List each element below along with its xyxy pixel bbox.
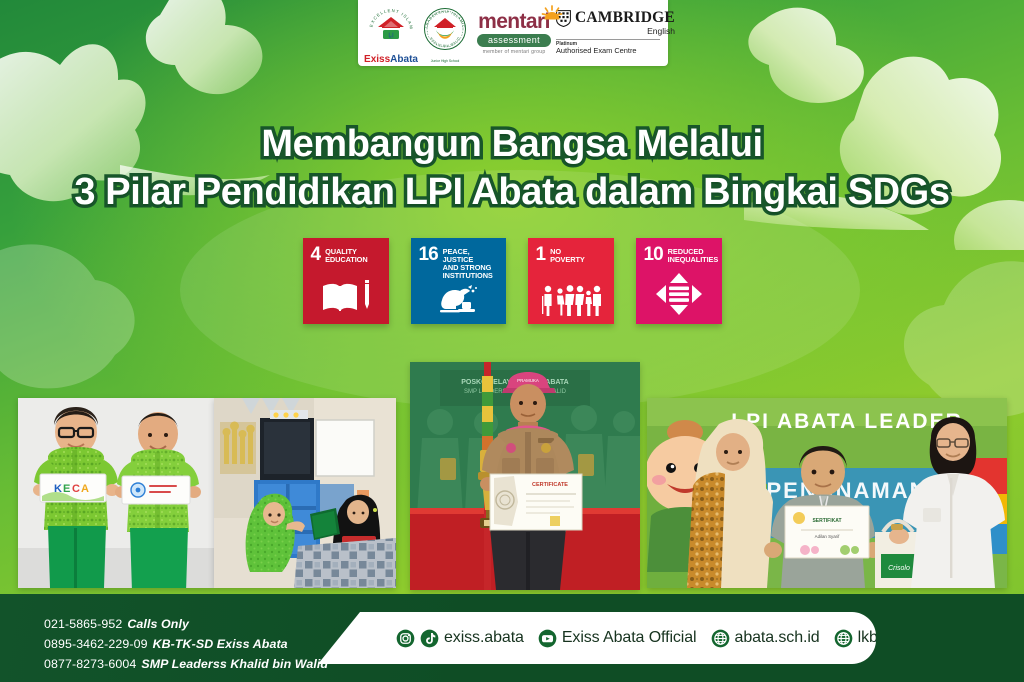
footer-bar: exiss.abata Exiss Abata Official [0, 594, 1024, 682]
cambridge-authorised-label: Authorised Exam Centre [556, 47, 660, 56]
svg-text:A: A [81, 483, 89, 495]
social-label-youtube: Exiss Abata Official [562, 629, 697, 647]
cambridge-english-label: English [575, 27, 675, 36]
leadership-seal-icon: LEADERSHIP ISLAMIC SCHOOL KHALID BIN WAL… [418, 4, 472, 58]
svg-text:PRAMUKA: PRAMUKA [517, 378, 539, 383]
poster-canvas: EXCELLENT ISLAMIC SCHOOL ابا ExissAbata [0, 0, 1024, 682]
sdg-goal-row: 4 Quality Education 16 Peace, Ju [0, 238, 1024, 324]
sun-icon [541, 4, 563, 25]
banner-lpi-abata-leader: LPI ABATA LEADER [731, 410, 963, 433]
photo-two-boys-holding-cards: K E C A [18, 398, 214, 588]
contact-desc: SMP Leaderss Khalid bin Walid [141, 657, 328, 671]
sdg-label: Quality Education [325, 247, 367, 264]
social-label-instagram: exiss.abata [444, 629, 524, 647]
sdg-label: Peace, Justice and Strong Institutions [443, 247, 499, 280]
globe-icon[interactable] [711, 629, 730, 648]
mentari-sub-label: member of mentari group [483, 49, 546, 55]
photo-collage: K E C A [0, 340, 1024, 592]
photo-classroom-reading [214, 398, 396, 588]
sdg-label: Reduced Inequalities [668, 247, 719, 264]
contact-list: 021-5865-952Calls Only 0895-3462-229-09K… [44, 614, 328, 674]
leadership-sub-label: Junior High School [431, 59, 459, 63]
exiss-word-part2: Abata [390, 54, 418, 65]
contact-desc: KB-TK-SD Exiss Abata [153, 637, 288, 651]
mentari-assessment-pill: assessment [477, 34, 551, 47]
dove-gavel-icon [411, 284, 506, 316]
svg-text:C: C [72, 483, 80, 495]
instagram-icon[interactable] [396, 629, 415, 648]
social-item-youtube[interactable]: Exiss Abata Official [538, 629, 697, 648]
cambridge-name: CAMBRIDGE [575, 10, 675, 26]
certificate-center-title: SERTIFIKAT [812, 518, 841, 524]
sdg-label: No Poverty [550, 247, 585, 264]
svg-text:ابا: ابا [388, 32, 394, 39]
sdg-number: 4 [311, 247, 321, 263]
cambridge-divider [556, 39, 660, 40]
equality-arrows-icon [636, 272, 722, 316]
exiss-seal-icon: EXCELLENT ISLAMIC SCHOOL ابا [364, 1, 418, 55]
sdg-number: 10 [644, 247, 663, 263]
contact-number: 0877-8273-6004 [44, 657, 136, 671]
book-pencil-icon [303, 278, 389, 316]
globe-icon[interactable] [834, 629, 853, 648]
contact-row: 0895-3462-229-09KB-TK-SD Exiss Abata [44, 634, 328, 654]
contact-desc: Calls Only [127, 617, 189, 631]
svg-text:Adilan Syarif: Adilan Syarif [815, 534, 840, 539]
social-item-website-abata[interactable]: abata.sch.id [711, 629, 820, 648]
logo-exiss-abata: EXCELLENT ISLAMIC SCHOOL ابا ExissAbata [364, 1, 418, 65]
headline-line-2: 3 Pilar Pendidikan LPI Abata dalam Bingk… [0, 172, 1024, 213]
tiktok-icon[interactable] [420, 629, 439, 648]
svg-text:E: E [63, 483, 70, 495]
mentari-word-text: mentari [478, 10, 550, 33]
photo-award-ceremony: LPI ABATA LEADER PENANAMAN [647, 398, 1007, 588]
page-title: Membangun Bangsa Melalui 3 Pilar Pendidi… [0, 124, 1024, 213]
sdg-tile-quality-education: 4 Quality Education [303, 238, 389, 324]
photo-scout-with-certificate: POSKO PELAYANAN LPI ABATA SMP LEADERSS K… [410, 362, 640, 590]
logo-bar: EXCELLENT ISLAMIC SCHOOL ابا ExissAbata [358, 0, 668, 66]
exiss-word-part1: Exiss [364, 54, 390, 65]
sdg-number: 16 [419, 247, 438, 263]
sdg-tile-reduced-inequalities: 10 Reduced Inequalities [636, 238, 722, 324]
social-links-panel: exiss.abata Exiss Abata Official [318, 612, 876, 664]
headline-line-1: Membangun Bangsa Melalui [261, 123, 762, 165]
logo-leadership-khalid: LEADERSHIP ISLAMIC SCHOOL KHALID BIN WAL… [418, 4, 472, 63]
certificate-title: CERTIFICATE [532, 482, 568, 488]
family-icon [528, 284, 614, 316]
mentari-wordmark: mentari [478, 11, 550, 32]
contact-number: 021-5865-952 [44, 617, 122, 631]
sdg-tile-peace-justice: 16 Peace, Justice and Strong Institution… [411, 238, 506, 324]
sdg-number: 1 [536, 247, 546, 263]
social-item-instagram-tiktok[interactable]: exiss.abata [396, 629, 524, 648]
contact-number: 0895-3462-229-09 [44, 637, 148, 651]
logo-cambridge-english: CAMBRIDGE English Platinum Authorised Ex… [556, 10, 660, 56]
exiss-wordmark: ExissAbata [364, 55, 418, 65]
social-label-abata-site: abata.sch.id [735, 629, 820, 647]
youtube-icon[interactable] [538, 629, 557, 648]
svg-text:Crisolo: Crisolo [888, 565, 910, 572]
logo-mentari-assessment: mentari assessment member o [472, 11, 556, 56]
contact-row: 021-5865-952Calls Only [44, 614, 328, 634]
sdg-tile-no-poverty: 1 No Poverty [528, 238, 614, 324]
contact-row: 0877-8273-6004SMP Leaderss Khalid bin Wa… [44, 654, 328, 674]
